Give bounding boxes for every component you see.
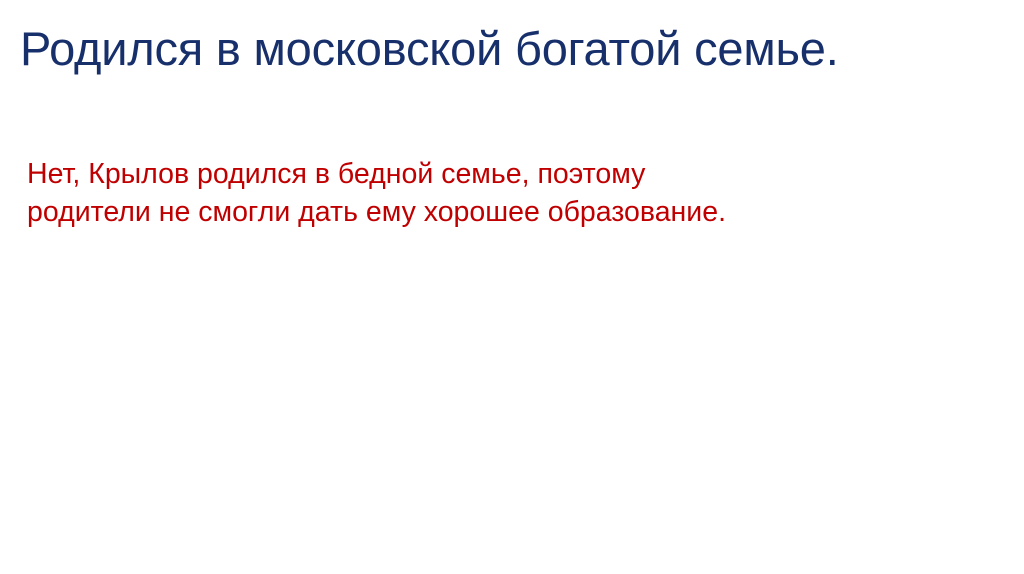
presentation-slide: Родился в московской богатой семье. Нет,… [0,0,1024,574]
slide-body-text: Нет, Крылов родился в бедной семье, поэт… [27,155,1002,231]
slide-content-area [0,250,1024,574]
body-line: Нет, Крылов родился в бедной семье, поэт… [27,155,1002,193]
body-line: родители не смогли дать ему хорошее обра… [27,193,1002,231]
slide-title: Родился в московской богатой семье. [20,17,900,81]
